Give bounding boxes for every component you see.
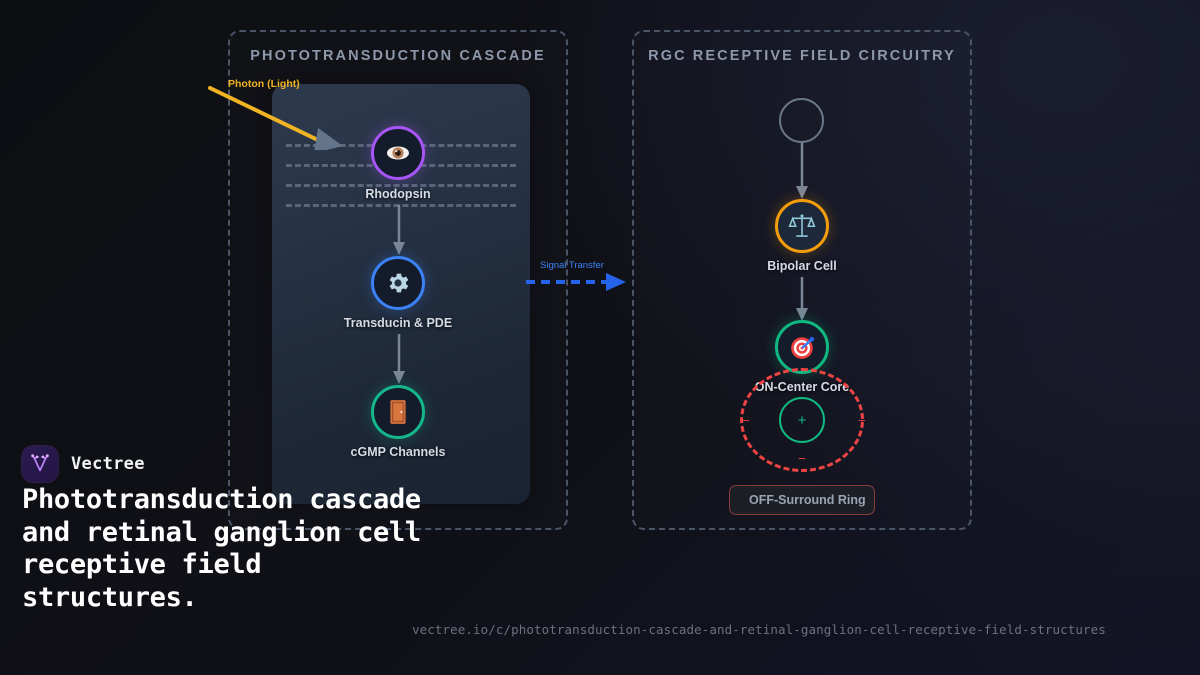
node-label-transducin-pde: Transducin & PDE bbox=[344, 316, 452, 330]
brand-name: Vectree bbox=[71, 454, 145, 474]
node-label-rhodopsin: Rhodopsin bbox=[365, 187, 430, 201]
surround-minus-sign: − bbox=[742, 414, 750, 427]
node-bipolar-cell[interactable] bbox=[775, 199, 829, 253]
node-label-bipolar-cell: Bipolar Cell bbox=[767, 259, 836, 273]
on-center-field-shape: + bbox=[779, 397, 825, 443]
target-icon bbox=[789, 334, 816, 361]
panel-title-cascade: PHOTOTRANSDUCTION CASCADE bbox=[230, 48, 566, 64]
node-rhodopsin[interactable] bbox=[371, 126, 425, 180]
connector-bipolar-oncenter bbox=[791, 277, 813, 323]
node-photoreceptor[interactable] bbox=[779, 98, 824, 143]
surround-minus-sign: − bbox=[858, 414, 866, 427]
vectree-glyph-icon bbox=[29, 453, 51, 475]
signal-transfer-arrow bbox=[524, 270, 628, 296]
brand-row: Vectree bbox=[22, 446, 145, 482]
node-cgmp-channels[interactable] bbox=[371, 385, 425, 439]
node-on-center-core[interactable] bbox=[775, 320, 829, 374]
off-surround-ring-badge[interactable]: OFF-Surround Ring bbox=[729, 485, 875, 515]
vectree-logo-icon bbox=[22, 446, 58, 482]
photon-beam-arrow bbox=[200, 80, 360, 150]
eye-icon bbox=[385, 140, 411, 166]
connector-rhodopsin-transducin bbox=[388, 205, 410, 257]
connector-transducin-cgmp bbox=[388, 334, 410, 386]
node-label-cgmp-channels: cGMP Channels bbox=[351, 445, 446, 459]
url-text: vectree.io/c/phototransduction-cascade-a… bbox=[412, 622, 1106, 637]
surround-minus-sign: − bbox=[798, 452, 806, 465]
node-transducin-pde[interactable] bbox=[371, 256, 425, 310]
connector-photoreceptor-bipolar bbox=[791, 143, 813, 201]
page-caption: Phototransduction cascade and retinal ga… bbox=[22, 484, 442, 615]
gear-icon bbox=[385, 270, 411, 296]
center-plus-sign: + bbox=[798, 412, 807, 429]
off-surround-badge-label: OFF-Surround Ring bbox=[749, 493, 866, 507]
panel-title-rgc: RGC RECEPTIVE FIELD CIRCUITRY bbox=[634, 48, 970, 64]
scales-icon bbox=[788, 212, 816, 240]
door-icon bbox=[386, 399, 410, 425]
diagram-canvas: PHOTOTRANSDUCTION CASCADE Photon (Light)… bbox=[0, 0, 1200, 675]
